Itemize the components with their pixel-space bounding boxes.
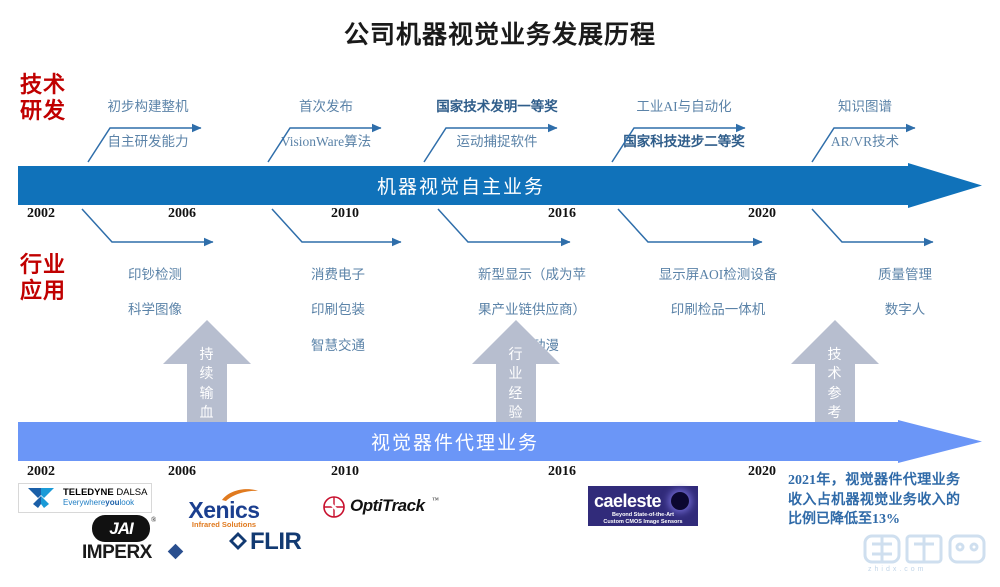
year-bottom-2006: 2006 — [168, 464, 196, 480]
watermark-url: zhidx.com — [868, 566, 927, 573]
teledyne-tagline: Everywhereyoulook — [63, 498, 134, 507]
imperx-diamond-icon — [168, 544, 184, 560]
industry-note-4: 显示屏AOI检测设备 印刷检品一体机 — [630, 248, 806, 337]
year-top-2002: 2002 — [27, 206, 55, 222]
tech-note-3-line1: 国家技术发明一等奖 — [412, 98, 582, 116]
industry-note-1-line2: 科学图像 — [80, 301, 230, 319]
page-title: 公司机器视觉业务发展历程 — [0, 15, 1000, 51]
section-label-industry-application: 行业 应用 — [8, 252, 78, 304]
imperx-wordmark: IMPERX — [82, 542, 152, 564]
year-bottom-2010: 2010 — [331, 464, 359, 480]
tech-note-2-line1: 首次发布 — [256, 98, 396, 116]
up-arrow-3-char3: 参 — [791, 385, 879, 404]
section-label-technology-rd: 技术 研发 — [8, 72, 78, 124]
jai-registered-icon: ® — [151, 516, 156, 524]
timeline-bar-agency-business: 视觉器件代理业务 — [18, 420, 982, 463]
caeleste-tagline: Beyond State-of-the-ArtCustom CMOS Image… — [588, 512, 698, 527]
section-label-industry-line2: 应用 — [8, 278, 78, 304]
logo-flir: FLIR — [228, 528, 320, 556]
industry-note-2-line3: 智慧交通 — [268, 337, 408, 355]
up-arrow-1-char1: 持 — [163, 346, 251, 365]
tech-note-1-line1: 初步构建整机 — [78, 98, 218, 116]
flir-diamond-icon — [228, 531, 248, 551]
logo-jai: JAI ® — [92, 515, 154, 545]
optitrack-tm-icon: ™ — [432, 496, 439, 504]
tech-note-2-line2: VisionWare算法 — [256, 133, 396, 151]
year-bottom-2020: 2020 — [748, 464, 776, 480]
watermark-zhidx: zhidx.com — [862, 528, 992, 580]
up-arrow-2-char1: 行 — [472, 346, 560, 365]
up-arrow-1-label: 持 续 输 血 — [163, 346, 251, 423]
top-bar-shape — [18, 163, 982, 208]
up-arrow-continuous-funding: 持 续 输 血 — [163, 320, 251, 425]
section-label-tech-line1: 技术 — [8, 72, 78, 98]
logo-teledyne-dalsa: TELEDYNE DALSA Everywhereyoulook — [18, 483, 152, 513]
up-arrow-3-char1: 技 — [791, 346, 879, 365]
up-arrow-2-char3: 经 — [472, 385, 560, 404]
tech-note-4-line2: 国家科技进步二等奖 — [598, 133, 770, 151]
logo-imperx: IMPERX — [82, 542, 190, 566]
industry-note-2: 消费电子 印刷包装 智慧交通 — [268, 248, 408, 373]
up-arrow-1-char3: 输 — [163, 385, 251, 404]
tech-note-1-line2: 自主研发能力 — [78, 133, 218, 151]
agency-revenue-note: 2021年，视觉器件代理业务收入占机器视觉业务收入的比例已降低至13% — [788, 471, 960, 530]
year-top-2006: 2006 — [168, 206, 196, 222]
up-arrow-2-label: 行 业 经 验 — [472, 346, 560, 423]
industry-note-1-line1: 印钞检测 — [80, 266, 230, 284]
logo-optitrack: OptiTrack ™ — [322, 494, 442, 520]
year-top-2016: 2016 — [548, 206, 576, 222]
industry-note-4-line1: 显示屏AOI检测设备 — [630, 266, 806, 284]
year-top-2020: 2020 — [748, 206, 776, 222]
tech-note-2: 首次发布 VisionWare算法 — [256, 80, 396, 169]
tech-note-4: 工业AI与自动化 国家科技进步二等奖 — [598, 80, 770, 169]
jai-wordmark: JAI — [92, 515, 150, 542]
teledyne-mark-icon — [23, 487, 59, 509]
teledyne-wordmark: TELEDYNE DALSA — [63, 487, 147, 498]
section-label-industry-line1: 行业 — [8, 252, 78, 278]
year-bottom-2002: 2002 — [27, 464, 55, 480]
tech-note-5: 知识图谱 AR/VR技术 — [800, 80, 930, 169]
industry-note-2-line2: 印刷包装 — [268, 301, 408, 319]
flir-wordmark: FLIR — [250, 528, 301, 556]
industry-note-3-line1: 新型显示（成为苹 — [452, 266, 612, 284]
optitrack-target-icon — [322, 495, 346, 519]
optitrack-wordmark: OptiTrack — [350, 496, 425, 516]
up-arrow-technology-reference: 技 术 参 考 — [791, 320, 879, 425]
up-arrow-1-char2: 续 — [163, 365, 251, 384]
industry-connectors — [82, 209, 933, 242]
caeleste-wordmark: caeleste — [594, 491, 661, 512]
section-label-tech-line2: 研发 — [8, 98, 78, 124]
watermark-logo-icon — [862, 528, 992, 568]
year-bottom-2016: 2016 — [548, 464, 576, 480]
logo-caeleste: caeleste Beyond State-of-the-ArtCustom C… — [588, 486, 698, 526]
tech-note-4-line1: 工业AI与自动化 — [598, 98, 770, 116]
tech-note-3-line2: 运动捕捉软件 — [412, 133, 582, 151]
tech-note-3: 国家技术发明一等奖 运动捕捉软件 — [412, 80, 582, 169]
bottom-bar-shape — [18, 420, 982, 463]
industry-note-4-line2: 印刷检品一体机 — [630, 301, 806, 319]
up-arrow-3-label: 技 术 参 考 — [791, 346, 879, 423]
tech-note-1: 初步构建整机 自主研发能力 — [78, 80, 218, 169]
up-arrow-3-char2: 术 — [791, 365, 879, 384]
up-arrow-2-char2: 业 — [472, 365, 560, 384]
industry-note-5-line2: 数字人 — [840, 301, 970, 319]
timeline-bar-autonomous-business: 机器视觉自主业务 — [18, 163, 982, 208]
year-top-2010: 2010 — [331, 206, 359, 222]
industry-note-2-line1: 消费电子 — [268, 266, 408, 284]
up-arrow-industry-experience: 行 业 经 验 — [472, 320, 560, 425]
tech-note-5-line1: 知识图谱 — [800, 98, 930, 116]
industry-note-3-line2: 果产业链供应商） — [452, 301, 612, 319]
tech-note-5-line2: AR/VR技术 — [800, 133, 930, 151]
logo-xenics: Xenics Infrared Solutions — [176, 487, 272, 532]
industry-note-5-line1: 质量管理 — [840, 266, 970, 284]
caeleste-sensor-dot-icon — [671, 492, 689, 510]
infographic-canvas: 公司机器视觉业务发展历程 技术 研发 行业 应用 初步构建整机 自主研发能力 首… — [0, 0, 1000, 587]
